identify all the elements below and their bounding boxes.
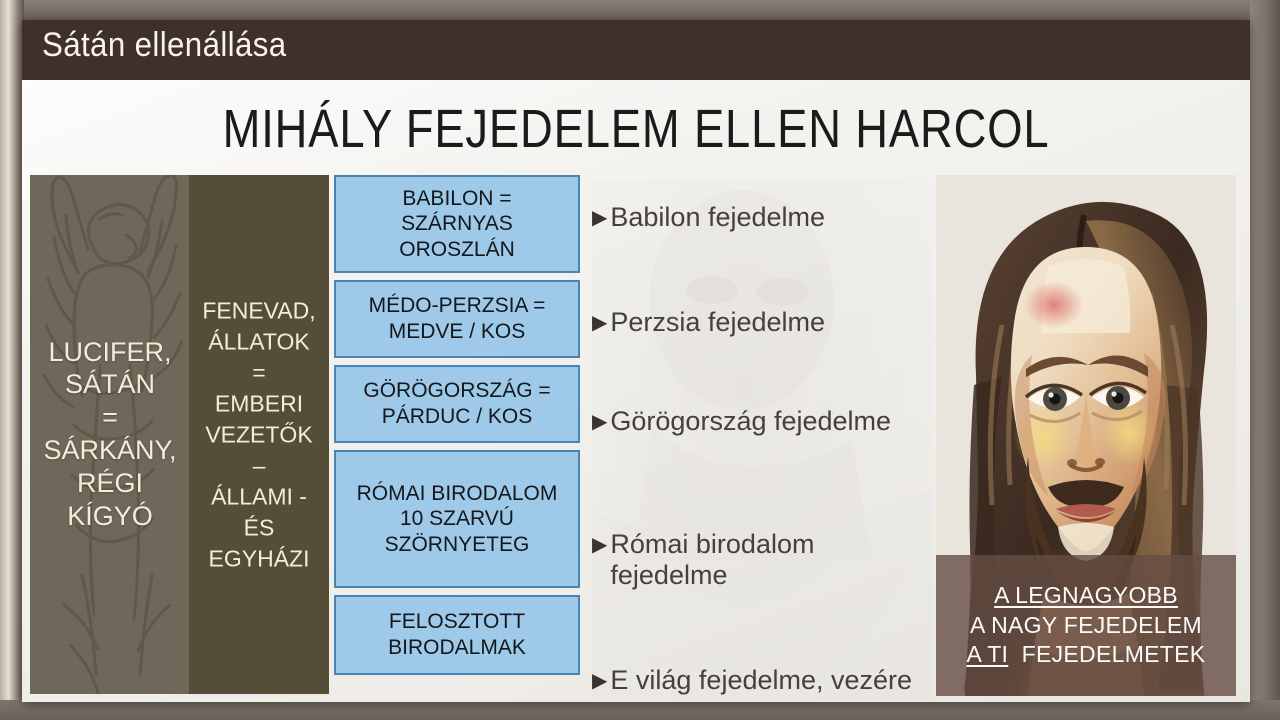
empire-box[interactable]: GÖRÖGORSZÁG = PÁRDUC / KOS <box>334 365 580 443</box>
list-item[interactable]: ▶ E világ fejedelme, vezére <box>592 665 932 696</box>
lucifer-line: LUCIFER, <box>36 336 184 369</box>
list-item[interactable]: ▶ Babilon fejedelme <box>592 202 932 233</box>
caption-line-3-underlined: A TI <box>967 641 1009 667</box>
list-item-label: Görögország fejedelme <box>610 406 891 437</box>
column-lucifer-text: LUCIFER, SÁTÁN = SÁRKÁNY, RÉGI KÍGYÓ <box>30 336 190 534</box>
empire-box-line: PÁRDUC / KOS <box>363 404 550 430</box>
caption-line-1: A LEGNAGYOBB <box>936 581 1236 611</box>
fenevad-line: ÁLLAMI - <box>193 481 325 512</box>
empire-box-line: FELOSZTOTT <box>388 609 526 635</box>
empire-box-line: SZÁRNYAS OROSZLÁN <box>342 211 572 262</box>
page-edge-top <box>0 0 1280 20</box>
empire-box-line: MÉDO-PERZSIA = <box>369 293 546 319</box>
list-item-label: E világ fejedelme, vezére <box>610 665 912 696</box>
fenevad-line: ÉS <box>193 512 325 543</box>
lucifer-line: KÍGYÓ <box>36 500 184 533</box>
list-item[interactable]: ▶ Perzsia fejedelme <box>592 307 932 338</box>
empire-box[interactable]: BABILON = SZÁRNYAS OROSZLÁN <box>334 175 580 273</box>
empire-box-line: BIRODALMAK <box>388 635 526 661</box>
empire-box-line: SZÖRNYETEG <box>357 532 558 558</box>
fenevad-line: – <box>193 450 325 481</box>
list-item-label: Babilon fejedelme <box>610 202 825 233</box>
empire-box-line: RÓMAI BIRODALOM <box>357 481 558 507</box>
triangle-bullet-icon: ▶ <box>592 668 607 695</box>
lucifer-line: SÁTÁN <box>36 369 184 402</box>
page-edge-bottom <box>0 700 1280 720</box>
fenevad-line: VEZETŐK <box>193 419 325 450</box>
empire-box-line: 10 SZARVÚ <box>357 506 558 532</box>
portrait-caption: A LEGNAGYOBB A NAGY FEJEDELEM A TI FEJED… <box>936 555 1236 696</box>
triangle-bullet-icon: ▶ <box>592 532 607 559</box>
triangle-bullet-icon: ▶ <box>592 409 607 436</box>
page-edge-left <box>0 0 24 720</box>
list-item-label: Perzsia fejedelme <box>610 307 825 338</box>
empire-box[interactable]: RÓMAI BIRODALOM 10 SZARVÚ SZÖRNYETEG <box>334 450 580 588</box>
slide-canvas: Sátán ellenállása MIHÁLY FEJEDELEM ELLEN… <box>22 20 1250 702</box>
empire-box[interactable]: FELOSZTOTT BIRODALMAK <box>334 595 580 675</box>
fenevad-line: FENEVAD, <box>193 295 325 326</box>
column-fenevad-text: FENEVAD, ÁLLATOK = EMBERI VEZETŐK – ÁLLA… <box>189 295 329 574</box>
page-title: MIHÁLY FEJEDELEM ELLEN HARCOL <box>120 98 1152 160</box>
caption-line-2: A NAGY FEJEDELEM <box>936 611 1236 641</box>
list-item[interactable]: ▶ Római birodalom fejedelme <box>592 529 932 591</box>
triangle-bullet-icon: ▶ <box>592 205 607 232</box>
empire-box-line: BABILON = <box>342 186 572 212</box>
header-bar: Sátán ellenállása <box>22 20 1250 80</box>
empire-box-line: GÖRÖGORSZÁG = <box>363 378 550 404</box>
empire-box-list: BABILON = SZÁRNYAS OROSZLÁN MÉDO-PERZSIA… <box>334 175 580 697</box>
triangle-bullet-icon: ▶ <box>592 310 607 337</box>
fenevad-line: = <box>193 357 325 388</box>
fenevad-line: ÁLLATOK <box>193 326 325 357</box>
header-title: Sátán ellenállása <box>42 26 287 65</box>
caption-line-3: A TI FEJEDELMETEK <box>936 640 1236 670</box>
column-lucifer: LUCIFER, SÁTÁN = SÁRKÁNY, RÉGI KÍGYÓ <box>30 175 190 694</box>
fenevad-line: EMBERI <box>193 388 325 419</box>
lucifer-line: = <box>36 402 184 435</box>
slide-root: Sátán ellenállása MIHÁLY FEJEDELEM ELLEN… <box>0 0 1280 720</box>
background-photo-watermark-icon <box>592 180 932 700</box>
lucifer-line: RÉGI <box>36 467 184 500</box>
empire-box-line: MEDVE / KOS <box>369 319 546 345</box>
list-item-label: Római birodalom fejedelme <box>610 529 830 591</box>
list-item[interactable]: ▶ Görögország fejedelme <box>592 406 932 437</box>
caption-line-3-rest: FEJEDELMETEK <box>1022 641 1206 667</box>
column-fenevad: FENEVAD, ÁLLATOK = EMBERI VEZETŐK – ÁLLA… <box>189 175 329 694</box>
page-edge-right <box>1250 0 1280 720</box>
bullet-list: ▶ Babilon fejedelme ▶ Perzsia fejedelme … <box>592 180 932 700</box>
empire-box[interactable]: MÉDO-PERZSIA = MEDVE / KOS <box>334 280 580 358</box>
fenevad-line: EGYHÁZI <box>193 543 325 574</box>
lucifer-line: SÁRKÁNY, <box>36 435 184 468</box>
